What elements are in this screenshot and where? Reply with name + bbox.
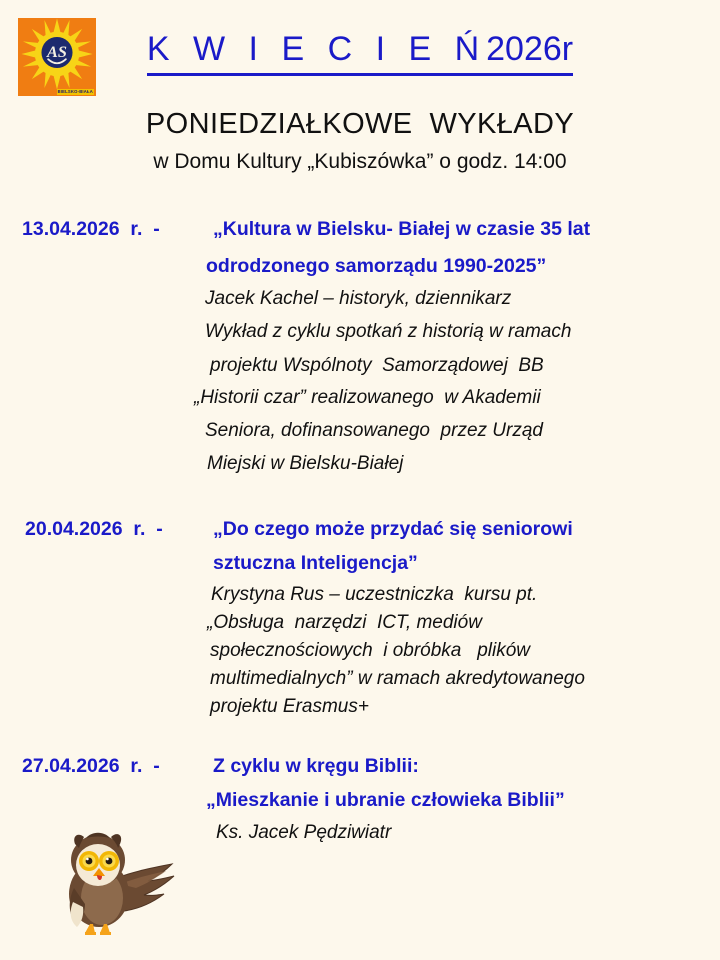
entry-date: 13.04.2026 r. - bbox=[22, 218, 160, 241]
poster: AS BIELSKO-BIAŁA K W I E C I E Ń2026r PO… bbox=[0, 0, 720, 960]
page-title-year: 2026r bbox=[486, 30, 573, 76]
entry-detail-line: projektu Erasmus+ bbox=[210, 696, 369, 718]
entry-detail-line: „Obsługa narzędzi ICT, mediów bbox=[207, 612, 482, 634]
page-title-month: K W I E C I E Ń bbox=[147, 30, 486, 76]
subtitle-main: PONIEDZIAŁKOWE WYKŁADY bbox=[0, 108, 720, 141]
logo-city-label: BIELSKO-BIAŁA bbox=[57, 89, 94, 95]
entry-detail-line: społecznościowych i obróbka plików bbox=[210, 640, 530, 662]
entry-title-line: sztuczna Inteligencja” bbox=[213, 552, 418, 575]
entry-title-line: „Kultura w Bielsku- Białej w czasie 35 l… bbox=[213, 218, 590, 241]
entry-detail-line: Jacek Kachel – historyk, dziennikarz bbox=[205, 288, 511, 310]
entry-detail-line: multimedialnych” w ramach akredytowanego bbox=[210, 668, 585, 690]
subtitle-sub: w Domu Kultury „Kubiszówka” o godz. 14:0… bbox=[0, 150, 720, 174]
entry-detail-line: Seniora, dofinansowanego przez Urząd bbox=[205, 420, 543, 442]
page-title: K W I E C I E Ń2026r bbox=[0, 30, 720, 69]
entry-detail-line: „Historii czar” realizowanego w Akademii bbox=[194, 387, 541, 409]
entry-date: 27.04.2026 r. - bbox=[22, 755, 160, 778]
entry-title-line: „Mieszkanie i ubranie człowieka Biblii” bbox=[206, 789, 565, 812]
entry-title-line: „Do czego może przydać się seniorowi bbox=[213, 518, 573, 541]
entry-title-line: odrodzonego samorządu 1990-2025” bbox=[206, 255, 546, 278]
entry-detail-line: Wykład z cyklu spotkań z historią w rama… bbox=[205, 321, 571, 343]
entry-detail-line: Ks. Jacek Pędziwiatr bbox=[216, 822, 391, 844]
owl-illustration bbox=[52, 828, 177, 938]
entry-detail-line: Miejski w Bielsku-Białej bbox=[207, 453, 403, 475]
entry-date: 20.04.2026 r. - bbox=[25, 518, 163, 541]
entry-detail-line: Krystyna Rus – uczestniczka kursu pt. bbox=[211, 584, 537, 606]
entry-detail-line: projektu Wspólnoty Samorządowej BB bbox=[210, 355, 544, 377]
entry-title-line: Z cyklu w kręgu Biblii: bbox=[213, 755, 419, 778]
